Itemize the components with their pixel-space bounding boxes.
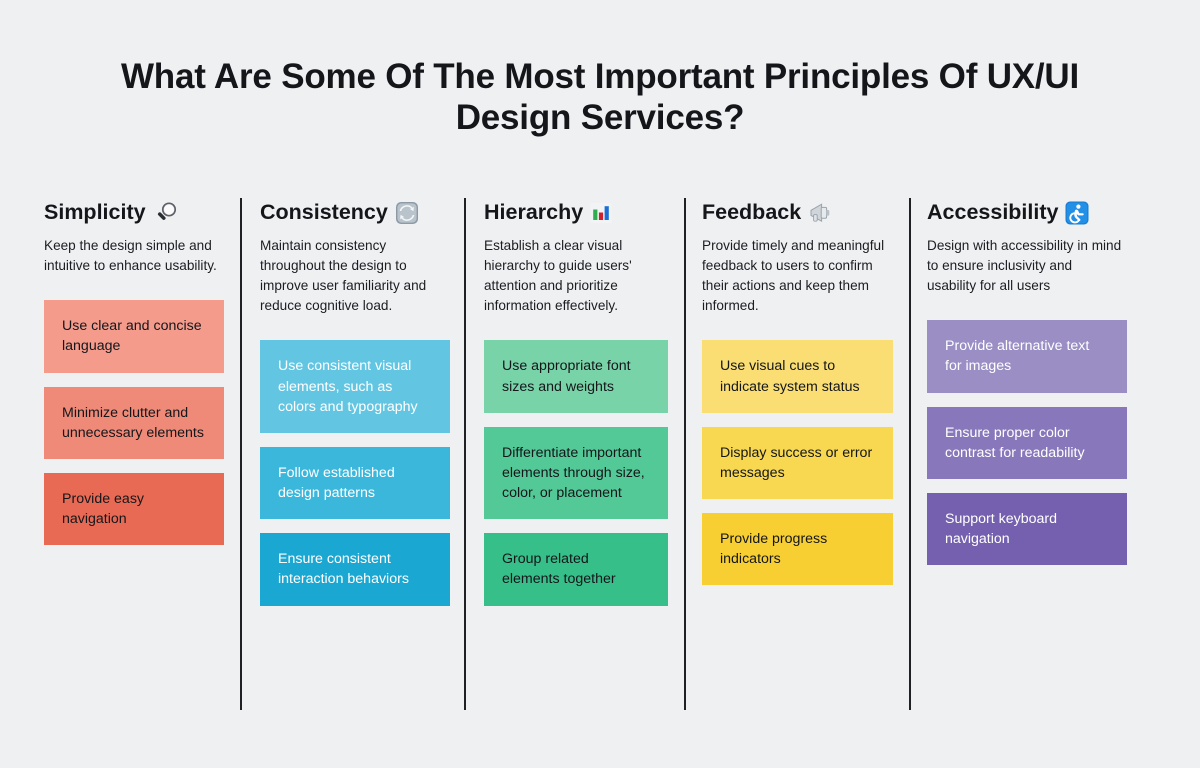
column-feedback: Feedback Provide timely and meaningful f… (684, 198, 909, 710)
column-accessibility: Accessibility Design with accessibility … (909, 198, 1135, 710)
column-divider (464, 198, 466, 710)
card-label: Differentiate important elements through… (502, 443, 650, 503)
accessibility-wheelchair-icon (1065, 201, 1089, 225)
card-label: Ensure proper color contrast for readabi… (945, 423, 1109, 463)
column-description: Provide timely and meaningful feedback t… (702, 236, 893, 316)
card-list-accessibility: Provide alternative text for images Ensu… (927, 320, 1127, 565)
column-header-simplicity: Simplicity (44, 198, 224, 228)
card-label: Provide alternative text for images (945, 336, 1109, 376)
column-title: Feedback (702, 201, 801, 225)
card-item[interactable]: Follow established design patterns (260, 447, 450, 519)
card-item[interactable]: Provide alternative text for images (927, 320, 1127, 392)
column-simplicity: Simplicity Keep the design simple and in… (44, 198, 240, 710)
card-item[interactable]: Support keyboard navigation (927, 493, 1127, 565)
principles-columns: Simplicity Keep the design simple and in… (44, 198, 1156, 710)
card-item[interactable]: Ensure consistent interaction behaviors (260, 533, 450, 605)
card-item[interactable]: Use clear and concise language (44, 300, 224, 372)
column-header-accessibility: Accessibility (927, 198, 1127, 228)
card-label: Use appropriate font sizes and weights (502, 356, 650, 396)
column-title: Accessibility (927, 201, 1058, 225)
card-label: Group related elements together (502, 549, 650, 589)
page-title: What Are Some Of The Most Important Prin… (120, 56, 1080, 139)
card-item[interactable]: Use consistent visual elements, such as … (260, 340, 450, 432)
card-item[interactable]: Use visual cues to indicate system statu… (702, 340, 893, 412)
card-label: Display success or error messages (720, 443, 875, 483)
card-label: Use clear and concise language (62, 316, 206, 356)
column-consistency: Consistency Maintain consistency through… (240, 198, 464, 710)
column-divider (240, 198, 242, 710)
card-label: Ensure consistent interaction behaviors (278, 549, 432, 589)
column-description: Design with accessibility in mind to ens… (927, 236, 1122, 296)
card-list-feedback: Use visual cues to indicate system statu… (702, 340, 893, 585)
card-item[interactable]: Group related elements together (484, 533, 668, 605)
column-description: Keep the design simple and intuitive to … (44, 236, 224, 276)
card-label: Provide progress indicators (720, 529, 875, 569)
refresh-arrows-icon (395, 201, 419, 225)
column-hierarchy: Hierarchy Establish a clear visual hiera… (464, 198, 684, 710)
column-description: Maintain consistency throughout the desi… (260, 236, 450, 316)
card-item[interactable]: Display success or error messages (702, 427, 893, 499)
card-list-hierarchy: Use appropriate font sizes and weights D… (484, 340, 668, 605)
column-divider (684, 198, 686, 710)
column-title: Consistency (260, 201, 388, 225)
card-label: Use consistent visual elements, such as … (278, 356, 432, 416)
card-list-consistency: Use consistent visual elements, such as … (260, 340, 450, 605)
card-item[interactable]: Minimize clutter and unnecessary element… (44, 387, 224, 459)
card-label: Use visual cues to indicate system statu… (720, 356, 875, 396)
card-item[interactable]: Differentiate important elements through… (484, 427, 668, 519)
column-header-hierarchy: Hierarchy (484, 198, 668, 228)
bar-chart-icon (590, 202, 612, 224)
card-label: Minimize clutter and unnecessary element… (62, 403, 206, 443)
column-title: Hierarchy (484, 201, 583, 225)
card-list-simplicity: Use clear and concise language Minimize … (44, 300, 224, 545)
card-label: Support keyboard navigation (945, 509, 1109, 549)
card-item[interactable]: Provide easy navigation (44, 473, 224, 545)
megaphone-icon (808, 201, 836, 225)
card-item[interactable]: Use appropriate font sizes and weights (484, 340, 668, 412)
title-section: What Are Some Of The Most Important Prin… (0, 0, 1200, 139)
column-divider (909, 198, 911, 710)
card-label: Follow established design patterns (278, 463, 432, 503)
magnifying-glass-icon (153, 200, 179, 226)
column-header-consistency: Consistency (260, 198, 450, 228)
infographic-poster: What Are Some Of The Most Important Prin… (0, 0, 1200, 768)
column-title: Simplicity (44, 201, 146, 225)
card-item[interactable]: Provide progress indicators (702, 513, 893, 585)
column-header-feedback: Feedback (702, 198, 893, 228)
column-description: Establish a clear visual hierarchy to gu… (484, 236, 668, 316)
card-label: Provide easy navigation (62, 489, 206, 529)
card-item[interactable]: Ensure proper color contrast for readabi… (927, 407, 1127, 479)
